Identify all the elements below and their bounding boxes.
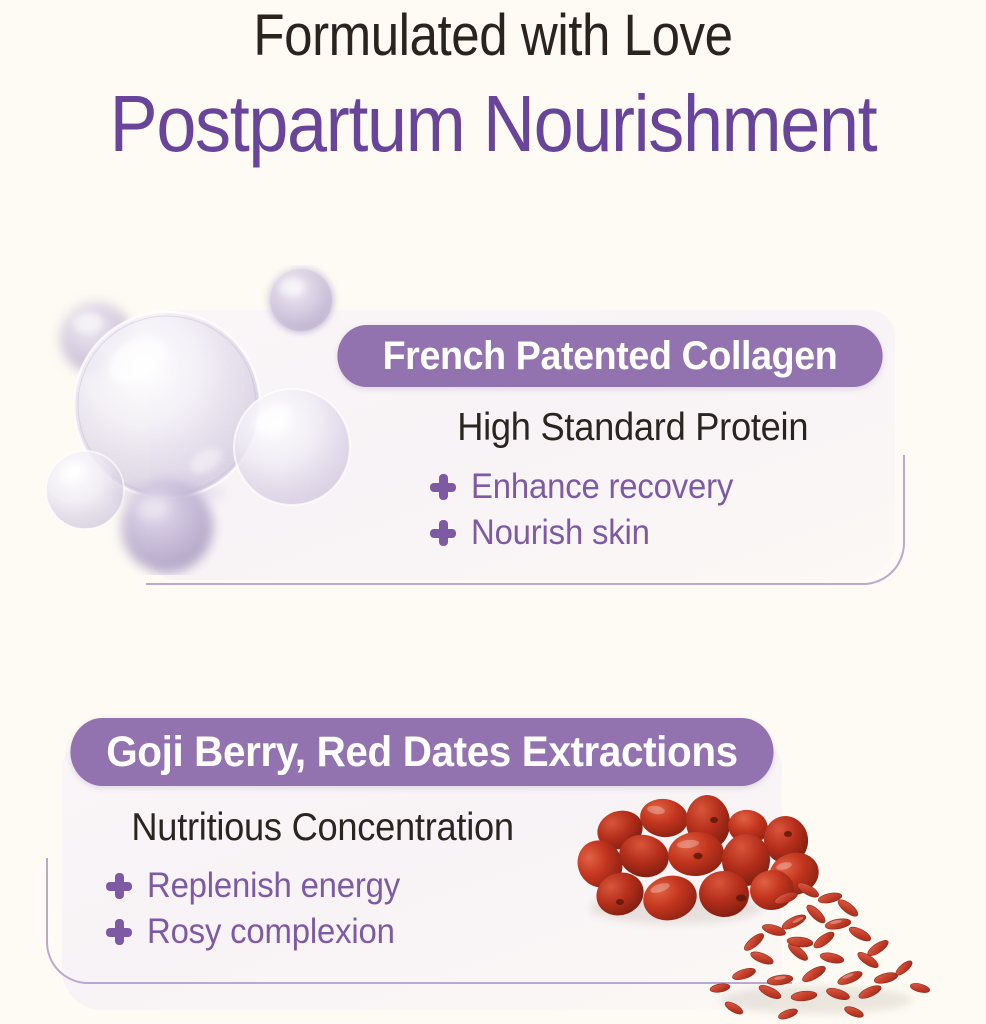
bullet-label: Enhance recovery: [471, 467, 733, 507]
bullet-list-goji: Replenish energy Rosy complexion: [106, 866, 416, 952]
plus-icon: [430, 474, 456, 500]
eyebrow-heading: Formulated with Love: [59, 0, 927, 70]
card-subtitle-collagen: High Standard Protein: [457, 406, 808, 450]
plus-icon: [106, 919, 132, 945]
header-block: Formulated with Love Postpartum Nourishm…: [0, 0, 986, 170]
bubble-small-lower-left: [46, 451, 124, 529]
bullet-list-collagen: Enhance recovery Nourish skin: [430, 467, 750, 553]
list-item: Enhance recovery: [430, 467, 750, 507]
list-item: Nourish skin: [430, 513, 750, 553]
list-item: Replenish energy: [106, 866, 416, 906]
badge-french-patented-collagen: French Patented Collagen: [337, 325, 882, 387]
bullet-label: Rosy complexion: [147, 912, 395, 952]
bubble-small-upper-left: [60, 302, 132, 374]
plus-icon: [106, 873, 132, 899]
page-title: Postpartum Nourishment: [49, 70, 936, 170]
product-feature-infographic: Formulated with Love Postpartum Nourishm…: [0, 0, 986, 1024]
list-item: Rosy complexion: [106, 912, 416, 952]
plus-icon: [430, 520, 456, 546]
bullet-label: Replenish energy: [147, 866, 400, 906]
card-subtitle-goji: Nutritious Concentration: [131, 806, 513, 850]
bullet-label: Nourish skin: [471, 513, 650, 553]
badge-goji-berry-red-dates-extractions: Goji Berry, Red Dates Extractions: [70, 718, 773, 786]
